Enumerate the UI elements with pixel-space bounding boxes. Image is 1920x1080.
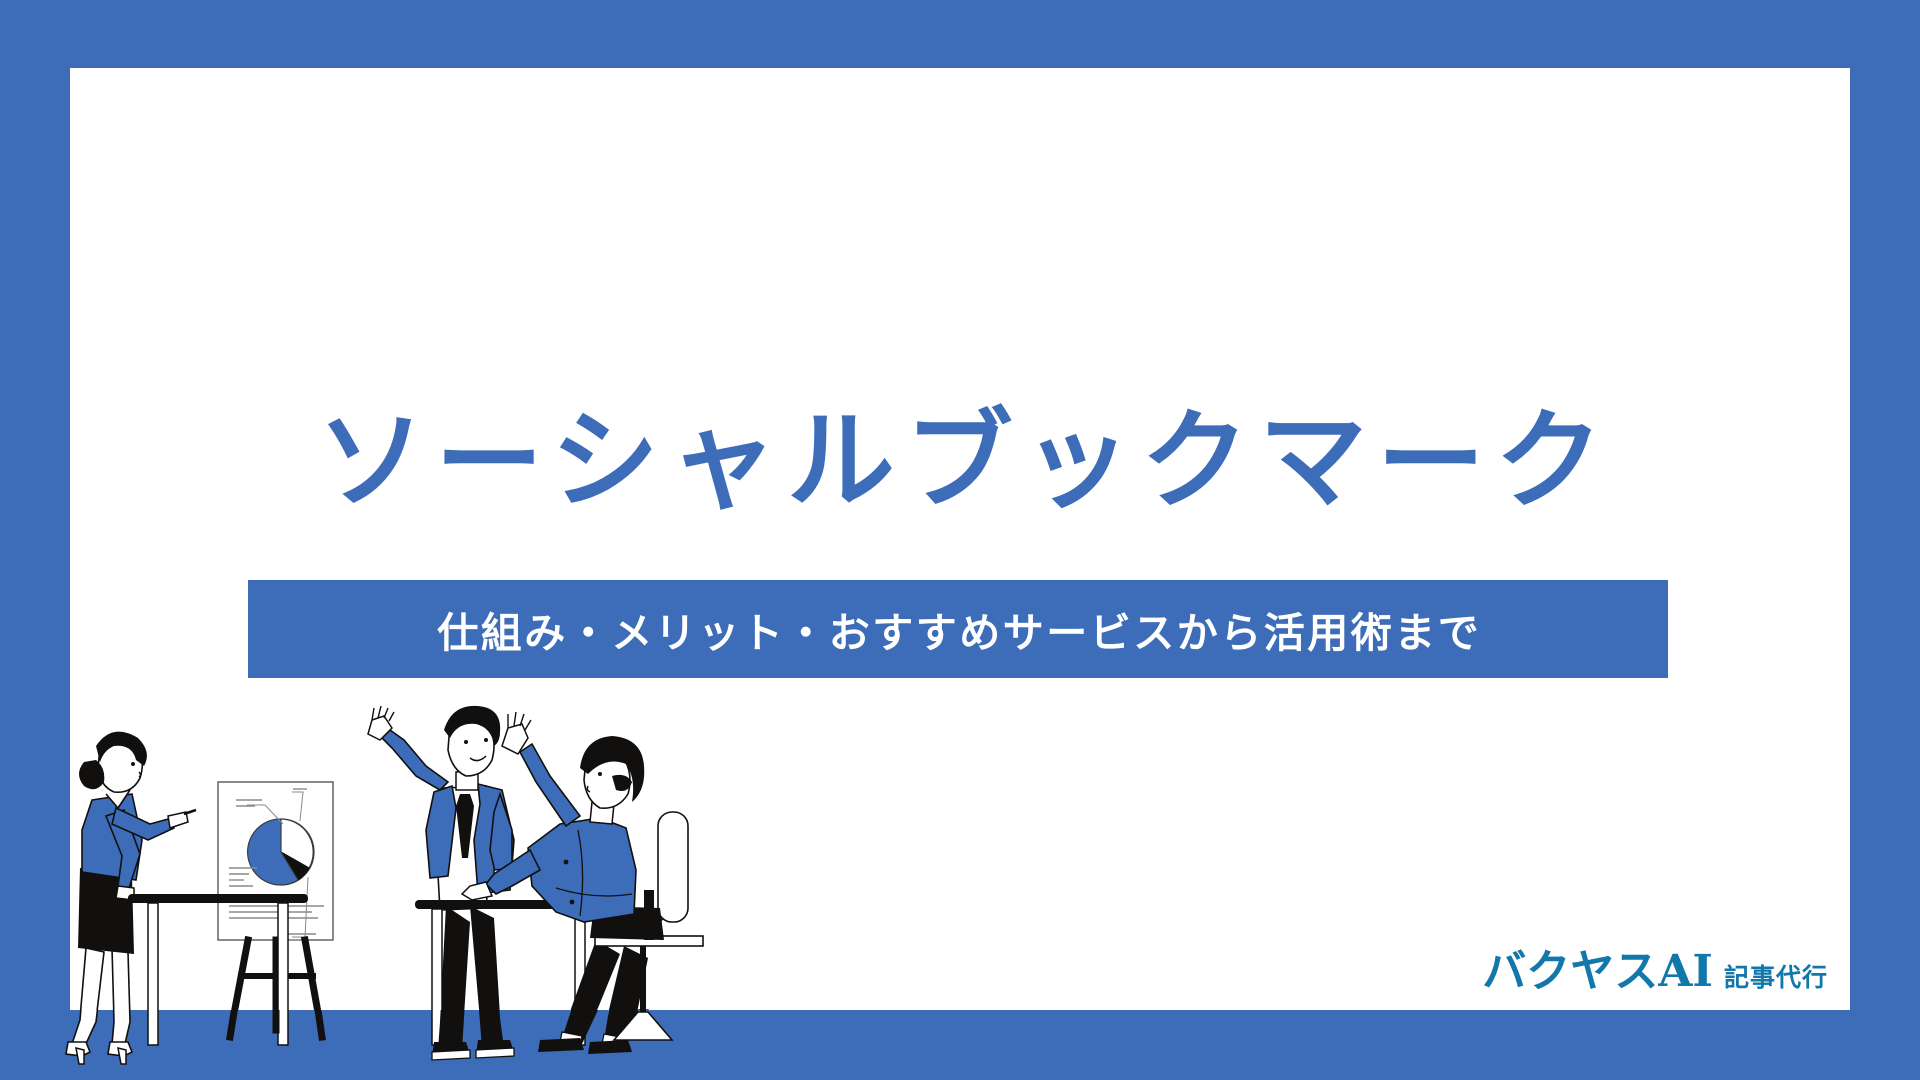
seated-person-figure: [462, 712, 703, 1010]
desk-left: [128, 894, 308, 1010]
subtitle-text: 仕組み・メリット・おすすめサービスから活用術まで: [435, 599, 1482, 659]
brand-logo: バクヤスAI 記事代行: [1482, 950, 1828, 994]
logo-service-text: 記事代行: [1724, 965, 1828, 990]
woman-figure: [70, 732, 196, 1010]
pie-chart: [248, 819, 314, 885]
content-card: ソーシャルブックマーク 仕組み・メリット・おすすめサービスから活用術まで バクヤ…: [70, 68, 1850, 1010]
business-team-illustration: [70, 690, 800, 1010]
poster-text-lines: [229, 789, 324, 940]
title-block: ソーシャルブックマーク: [70, 398, 1850, 525]
slide-canvas: ソーシャルブックマーク 仕組み・メリット・おすすめサービスから活用術まで バクヤ…: [0, 0, 1920, 1080]
poster-callouts: [247, 792, 308, 937]
easel-poster: [218, 782, 333, 940]
easel-legs: [230, 940, 322, 1010]
logo-brand-text: バクヤスAI: [1482, 950, 1713, 994]
page-title: ソーシャルブックマーク: [307, 398, 1613, 525]
subtitle-banner: 仕組み・メリット・おすすめサービスから活用術まで: [248, 580, 1668, 678]
illustration-floor-overlap: [0, 1010, 800, 1080]
illustration-floor-svg: [0, 1010, 800, 1080]
illustration-svg: [70, 690, 800, 1010]
standing-man-figure: [368, 706, 514, 1010]
easel-crossbar: [238, 973, 316, 979]
desk-right: [415, 900, 605, 1010]
